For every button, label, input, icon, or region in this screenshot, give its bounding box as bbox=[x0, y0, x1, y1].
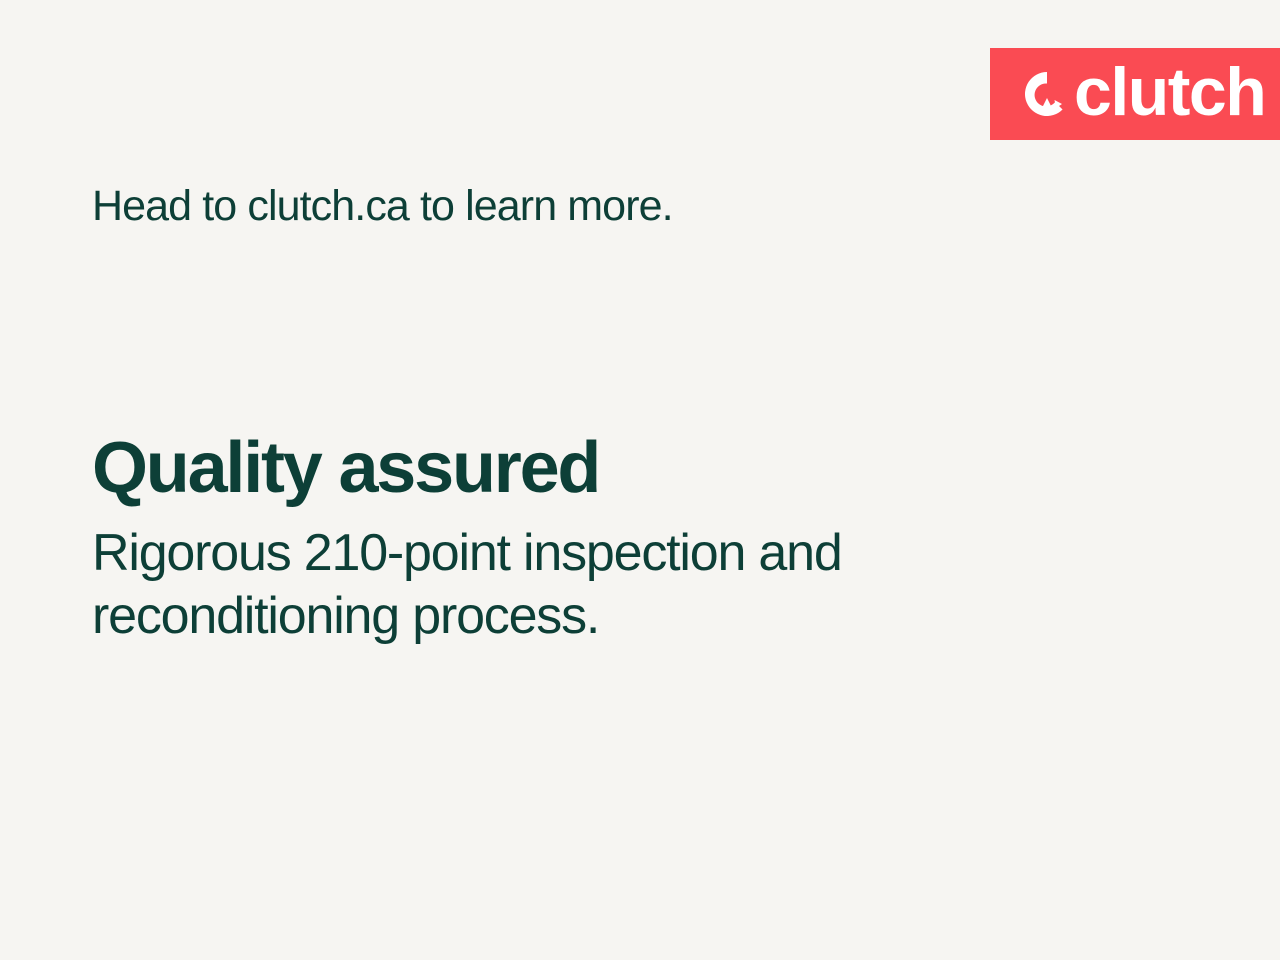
slide-canvas: clutch Head to clutch.ca to learn more. … bbox=[0, 0, 1280, 960]
clutch-c-logomark bbox=[1022, 69, 1072, 119]
clutch-logo[interactable]: clutch bbox=[1022, 60, 1265, 128]
headline-group: Quality assured Rigorous 210-point inspe… bbox=[92, 432, 992, 649]
page-title: Quality assured bbox=[92, 432, 992, 504]
eyebrow-text: Head to clutch.ca to learn more. bbox=[92, 182, 673, 231]
subhead-text: Rigorous 210-point inspection and recond… bbox=[92, 522, 932, 649]
brand-wordmark: clutch bbox=[1074, 58, 1265, 126]
brand-logo-block: clutch bbox=[990, 48, 1280, 140]
